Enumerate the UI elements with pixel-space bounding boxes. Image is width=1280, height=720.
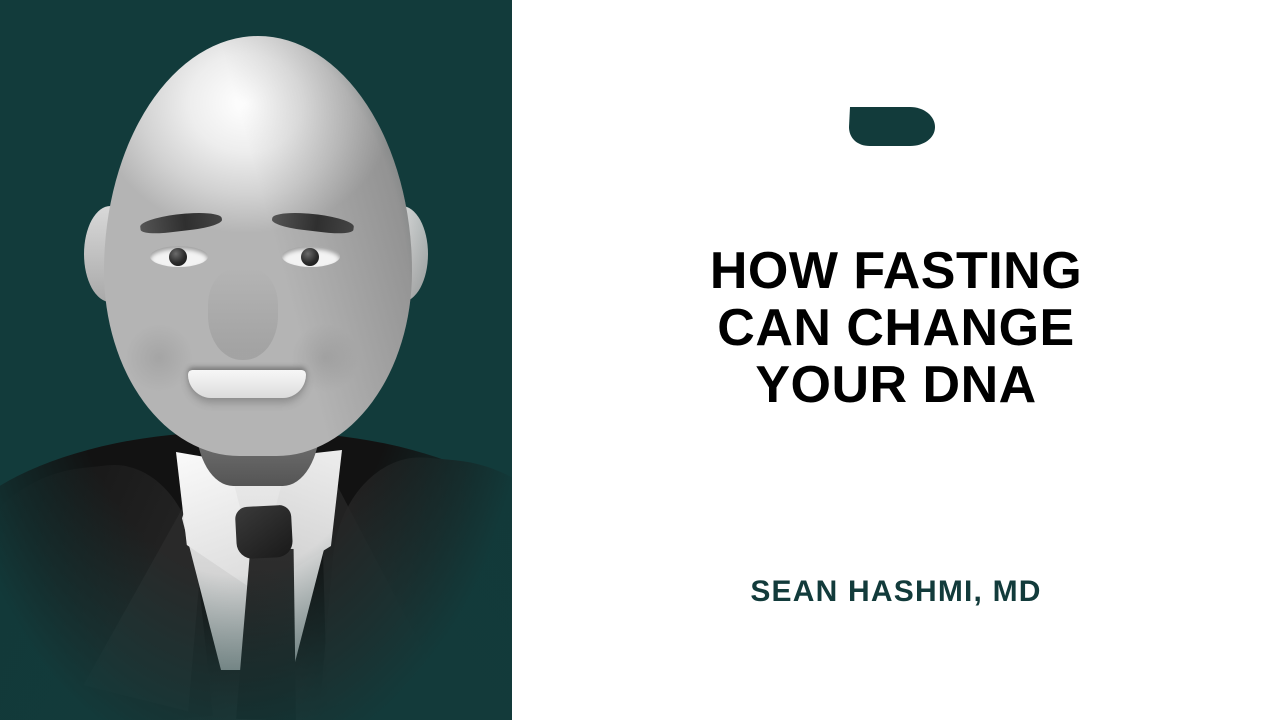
- title-line-1: HOW FASTING: [512, 243, 1280, 300]
- title-line-2: CAN CHANGE: [512, 300, 1280, 357]
- mouth-smile: [188, 370, 306, 398]
- nose: [208, 268, 278, 360]
- title-card: HOW FASTING CAN CHANGE YOUR DNA SEAN HAS…: [0, 0, 1280, 720]
- iris-left: [169, 248, 187, 266]
- speaker-name: SEAN HASHMI, MD: [512, 573, 1280, 611]
- cheek-left: [126, 322, 192, 394]
- title-line-3: YOUR DNA: [512, 357, 1280, 414]
- page-title: HOW FASTING CAN CHANGE YOUR DNA: [512, 243, 1280, 414]
- eye-right: [282, 246, 340, 267]
- content-panel: HOW FASTING CAN CHANGE YOUR DNA SEAN HAS…: [512, 0, 1280, 720]
- eye-left: [150, 246, 208, 267]
- speaker-portrait-image: [0, 0, 512, 720]
- iris-right: [301, 248, 319, 266]
- leaf-icon: [848, 104, 936, 148]
- necktie-knot: [235, 505, 294, 560]
- portrait-panel: [0, 0, 512, 720]
